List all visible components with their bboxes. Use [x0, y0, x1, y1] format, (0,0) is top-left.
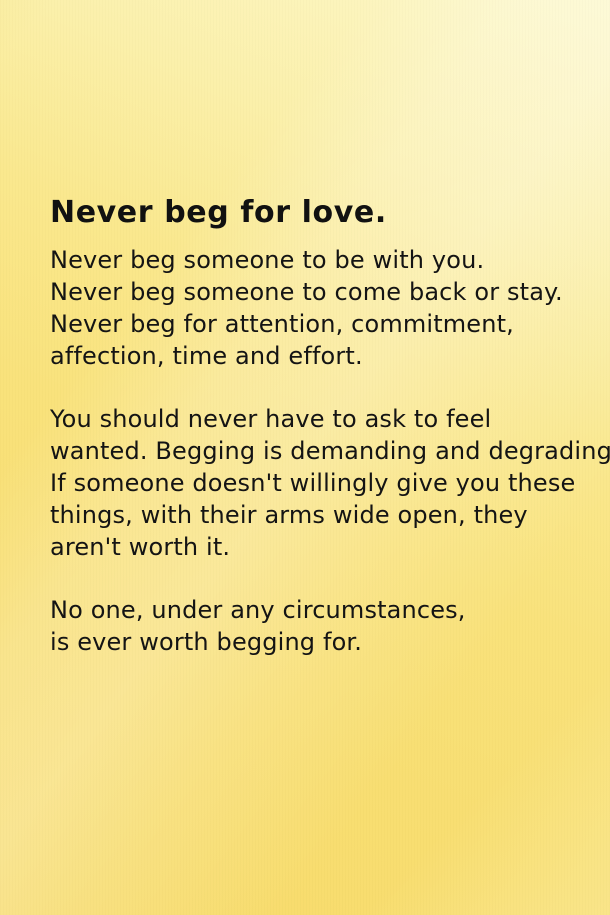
quote-line: Never beg for attention, commitment,	[50, 308, 602, 340]
quote-title: Never beg for love.	[50, 196, 602, 230]
quote-line: If someone doesn't willingly give you th…	[50, 467, 602, 499]
quote-line: is ever worth begging for.	[50, 626, 602, 658]
quote-line: affection, time and effort.	[50, 340, 602, 372]
quote-line: Never beg someone to be with you.	[50, 244, 602, 276]
quote-paragraph-1: Never beg someone to be with you. Never …	[50, 244, 602, 372]
quote-line: aren't worth it.	[50, 531, 602, 563]
quote-content: Never beg for love. Never beg someone to…	[50, 196, 602, 658]
quote-line: wanted. Begging is demanding and degradi…	[50, 435, 602, 467]
quote-line: No one, under any circumstances,	[50, 594, 602, 626]
quote-line: You should never have to ask to feel	[50, 403, 602, 435]
quote-paragraph-2: You should never have to ask to feel wan…	[50, 403, 602, 563]
quote-paragraph-3: No one, under any circumstances, is ever…	[50, 594, 602, 658]
quote-poster: Never beg for love. Never beg someone to…	[0, 0, 610, 915]
quote-line: Never beg someone to come back or stay.	[50, 276, 602, 308]
quote-line: things, with their arms wide open, they	[50, 499, 602, 531]
